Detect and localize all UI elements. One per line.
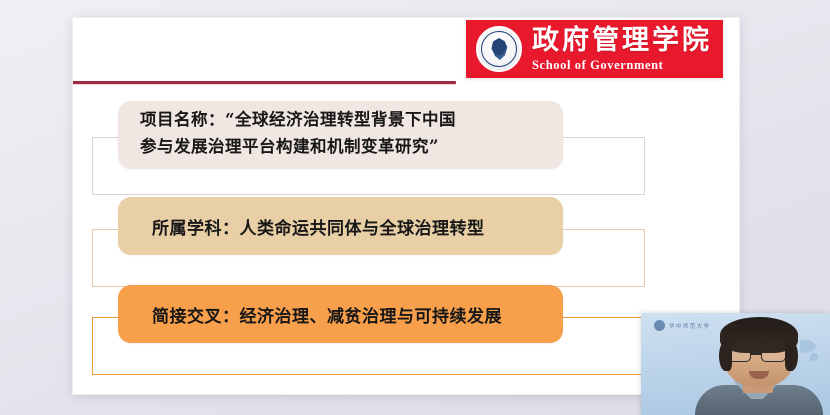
indirect-intersection-text: 简接交叉：经济治理、减贫治理与可持续发展 xyxy=(138,302,502,327)
header-divider-rule xyxy=(72,81,456,84)
glasses-bridge-icon xyxy=(751,353,761,355)
school-logo-banner: 政府管理学院 School of Government xyxy=(466,20,723,78)
discipline-text: 所属学科：人类命运共同体与全球治理转型 xyxy=(138,214,485,239)
seal-emblem-icon xyxy=(489,38,509,60)
row-pill-indirect-intersection: 简接交叉：经济治理、减贫治理与可持续发展 xyxy=(118,285,563,343)
row-pill-discipline: 所属学科：人类命运共同体与全球治理转型 xyxy=(118,197,563,255)
speaker-hair-left xyxy=(719,341,732,371)
school-name-en: School of Government xyxy=(532,59,712,72)
speaker-hair-right xyxy=(785,341,798,371)
school-name-cn: 政府管理学院 xyxy=(532,27,712,54)
slide-canvas: 政府管理学院 School of Government 项目名称：“全球经济治理… xyxy=(72,17,740,395)
webcam-speaker xyxy=(693,319,825,415)
content-row-discipline: 所属学科：人类命运共同体与全球治理转型 xyxy=(72,193,740,285)
content-row-project-name: 项目名称：“全球经济治理转型背景下中国 参与发展治理平台构建和机制变革研究” xyxy=(72,101,740,193)
school-logo-text: 政府管理学院 School of Government xyxy=(532,27,712,72)
university-mark-icon xyxy=(654,320,665,331)
school-seal-icon xyxy=(476,26,522,72)
project-name-line-2: 参与发展治理平台构建和机制变革研究” xyxy=(140,134,439,161)
project-name-line-1: 项目名称：“全球经济治理转型背景下中国 xyxy=(140,107,456,134)
content-row-indirect-intersection: 简接交叉：经济治理、减贫治理与可持续发展 xyxy=(72,281,740,373)
webcam-video-overlay[interactable]: 华中师范大学 xyxy=(641,313,830,415)
row-pill-project-name: 项目名称：“全球经济治理转型背景下中国 参与发展治理平台构建和机制变革研究” xyxy=(118,101,563,169)
